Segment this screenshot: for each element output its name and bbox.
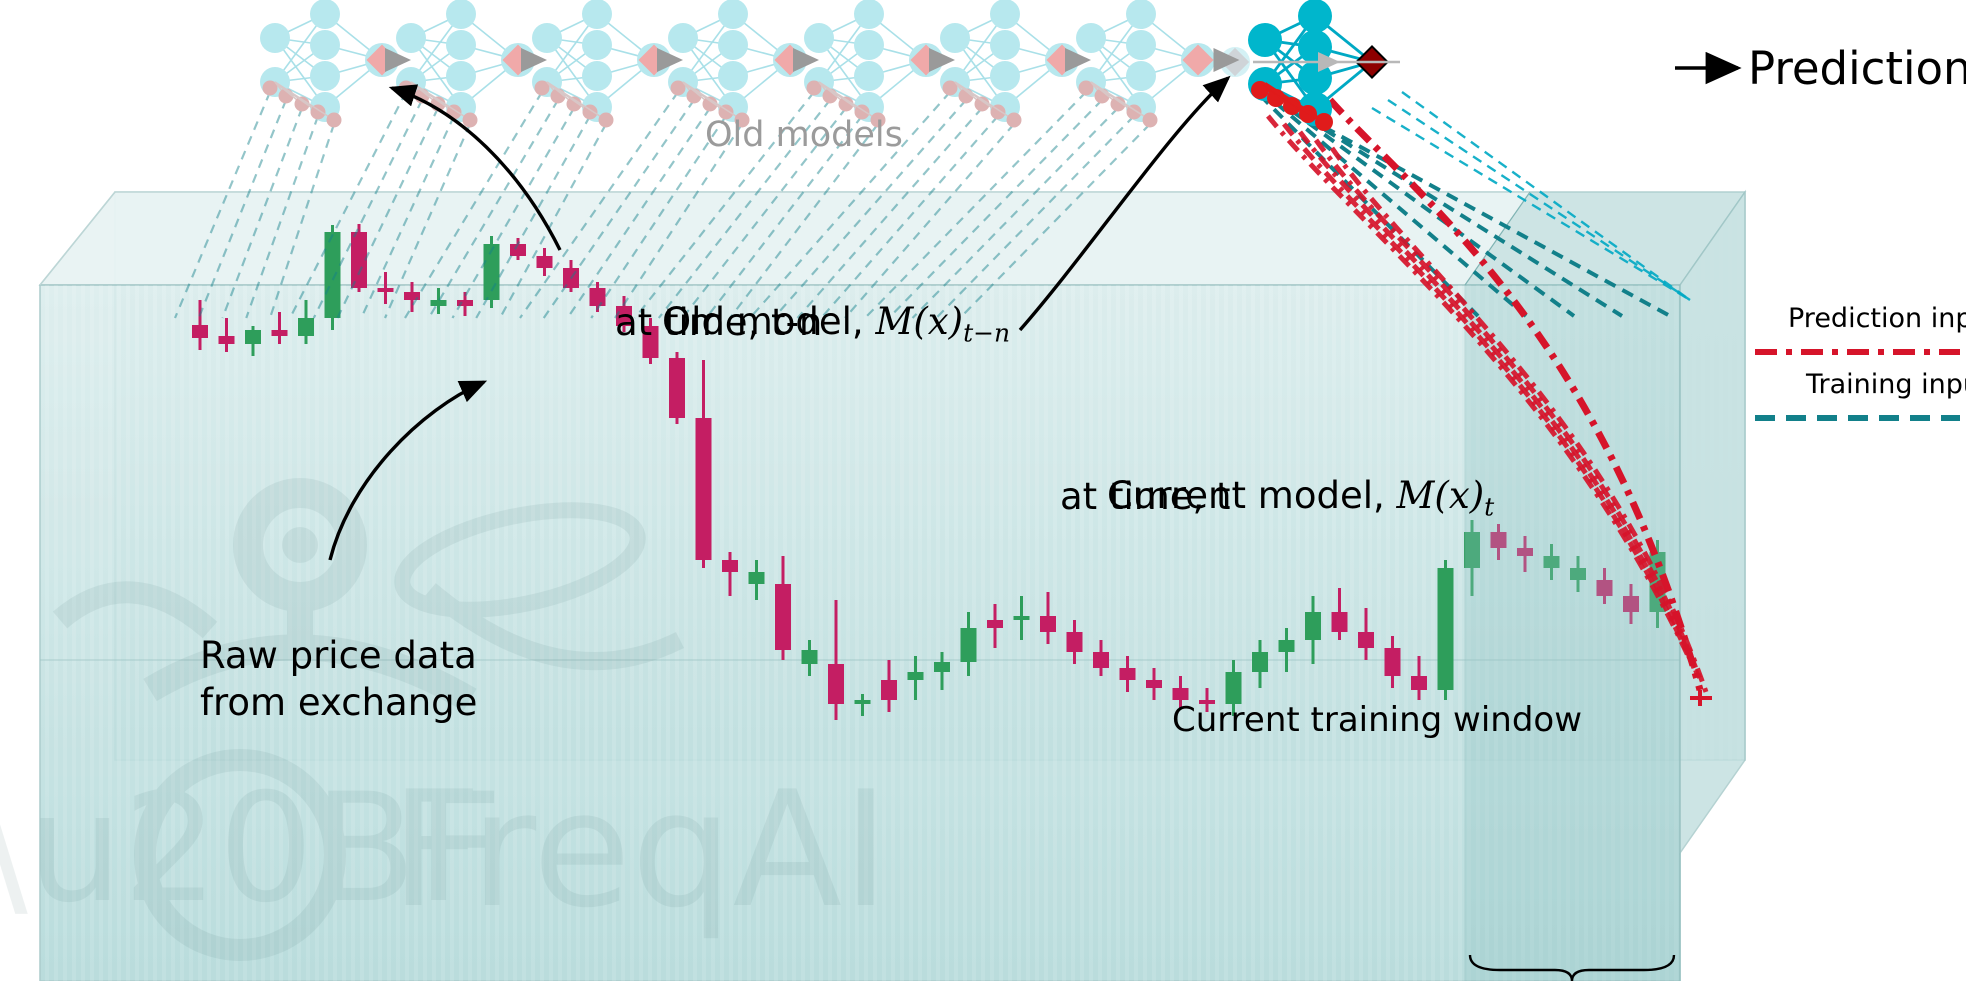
legend-label-prediction-input: Prediction input [1788,303,1966,334]
old-model-subscript: t−n [963,319,1010,348]
legend-label-training-input: Training input [1806,369,1966,400]
raw-price-label-line1: Raw price data [200,633,477,679]
diagram-canvas: \u20BF FreqAI [0,0,1966,981]
old-models-label: Old models [705,115,903,155]
raw-price-label-line2: from exchange [200,680,477,726]
current-model-subscript: t [1484,493,1494,522]
current-model-time-label: at time, t [1060,474,1231,520]
prediction-label: Prediction [1748,42,1966,95]
old-model-formula: M(x) [875,300,963,343]
current-model-formula: M(x) [1397,474,1485,517]
current-training-window-label: Current training window [1172,700,1582,740]
legend-layer [0,0,1966,981]
old-model-time-label: at time, t-n [615,300,822,346]
